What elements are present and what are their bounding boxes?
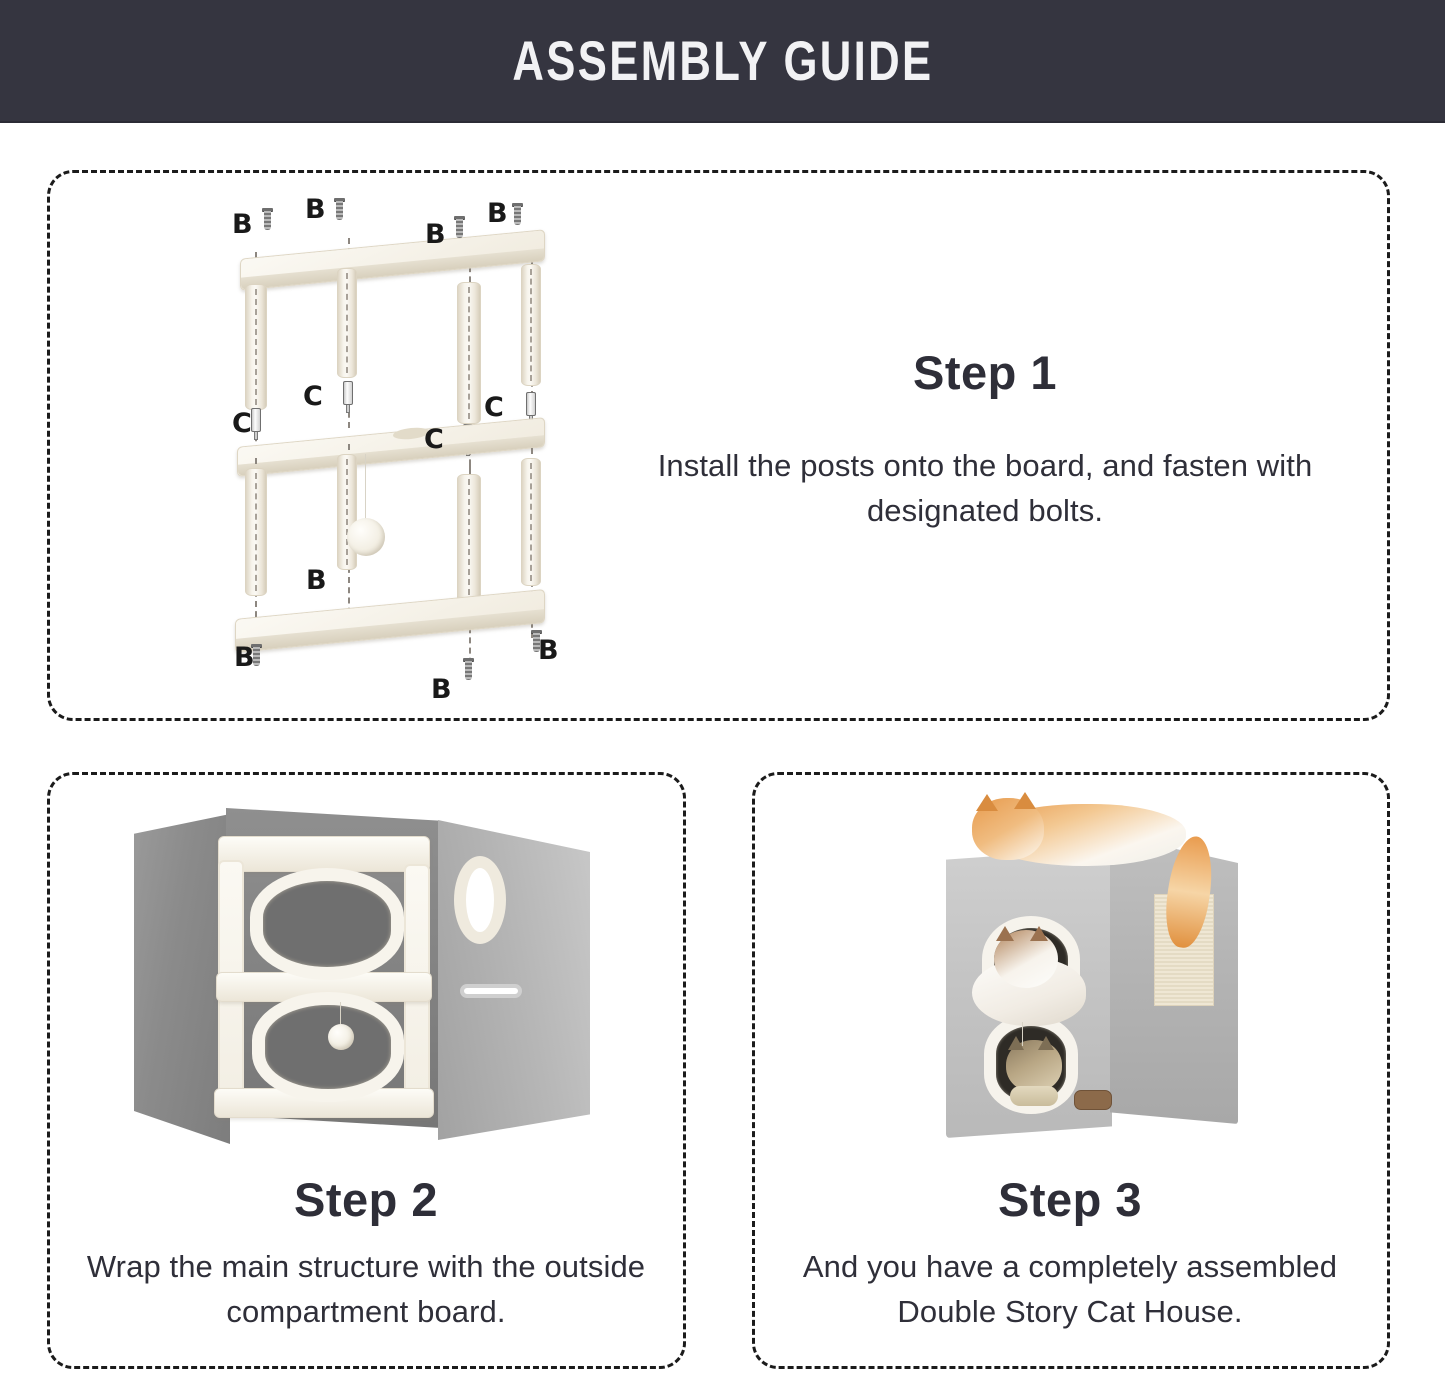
bolt-icon <box>454 216 465 238</box>
pompom-toy <box>328 1024 354 1050</box>
lower-cave-ring <box>252 992 404 1102</box>
connector-dowel <box>343 381 353 413</box>
part-label-b: B <box>431 676 452 703</box>
bottom-board <box>235 589 545 653</box>
finished-cat-house-illustration <box>910 790 1290 1160</box>
top-board <box>240 229 545 290</box>
toy-string <box>365 454 366 522</box>
wrapping-illustration <box>128 800 598 1160</box>
bolt-icon <box>512 203 523 225</box>
step-3-heading: Step 3 <box>764 1172 1376 1227</box>
connector-dowel <box>251 408 261 440</box>
post-lower-mid <box>337 454 357 570</box>
part-label-b: B <box>425 221 446 248</box>
page-header: ASSEMBLY GUIDE <box>0 0 1445 123</box>
part-label-b: B <box>234 644 255 671</box>
step-2-heading: Step 2 <box>60 1172 672 1227</box>
cat-orange-ear-right <box>1014 792 1036 809</box>
part-label-b: B <box>305 196 326 223</box>
step-1-text-block: Step 1 Install the posts onto the board,… <box>640 345 1330 533</box>
bolt-icon <box>463 658 474 680</box>
felt-oval-cutout <box>454 856 506 944</box>
tower-top-shelf <box>218 836 430 872</box>
cat-upper-ear-left <box>996 926 1014 941</box>
part-label-b: B <box>232 211 253 238</box>
part-label-c: C <box>424 426 444 453</box>
cat-tabby-paws <box>1010 1086 1058 1106</box>
part-label-c: C <box>484 394 504 421</box>
toy-string <box>1022 1022 1023 1046</box>
bolt-icon <box>262 208 273 230</box>
step-1-heading: Step 1 <box>640 345 1330 400</box>
step-1-body: Install the posts onto the board, and fa… <box>640 444 1330 533</box>
post-upper-left <box>245 284 267 410</box>
part-label-b: B <box>306 567 327 594</box>
felt-slot-cutout <box>460 984 522 998</box>
post-upper-mid <box>337 268 357 378</box>
step-2-body: Wrap the main structure with the outside… <box>60 1245 672 1334</box>
upper-cave-ring <box>250 868 404 980</box>
post-lower-far <box>521 458 541 586</box>
post-upper-far <box>521 264 541 386</box>
exploded-assembly-diagram <box>215 196 565 696</box>
cat-upper-ear-right <box>1030 926 1048 941</box>
page-title: ASSEMBLY GUIDE <box>512 28 933 93</box>
cat-orange-ear-left <box>976 794 998 811</box>
cat-tabby-ear-right <box>1038 1036 1054 1050</box>
step-2-text-block: Step 2 Wrap the main structure with the … <box>60 1172 672 1334</box>
step-3-body: And you have a completely assembled Doub… <box>764 1245 1376 1334</box>
pompom-toy <box>347 518 385 556</box>
part-label-b: B <box>538 637 559 664</box>
post-lower-left <box>245 468 267 596</box>
part-label-b: B <box>487 200 508 227</box>
part-label-c: C <box>303 383 323 410</box>
step-3-text-block: Step 3 And you have a completely assembl… <box>764 1172 1376 1334</box>
assembly-guide-page: ASSEMBLY GUIDE <box>0 0 1445 1375</box>
middle-board <box>237 417 545 477</box>
part-label-c: C <box>232 410 252 437</box>
post-upper-right <box>457 282 481 424</box>
bolt-icon <box>334 198 345 220</box>
brand-logo-tag <box>1074 1090 1112 1110</box>
